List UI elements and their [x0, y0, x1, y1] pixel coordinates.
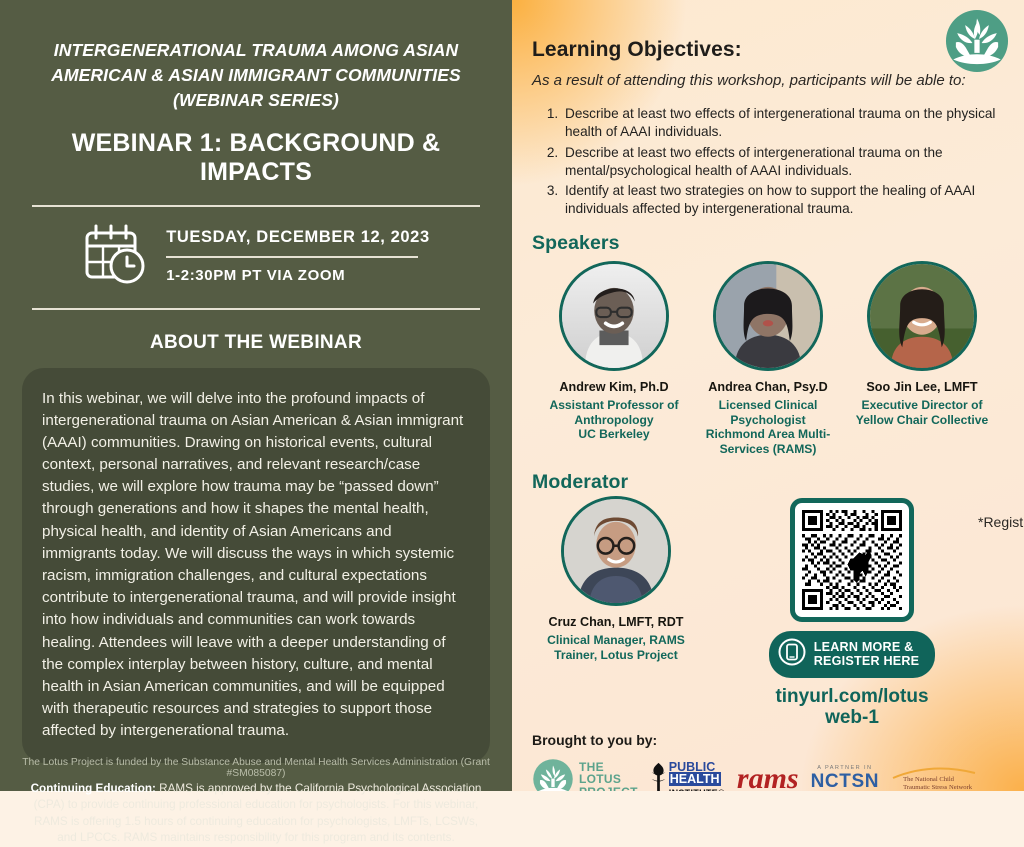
speaker-role: Executive Director of Yellow Chair Colle… [846, 398, 998, 428]
webinar-time: 1-2:30PM PT VIA ZOOM [166, 258, 430, 284]
nctsn-sub-line2: Traumatic Stress Network [903, 784, 972, 791]
divider-bottom [32, 308, 480, 310]
moderator-heading: Moderator [532, 471, 1004, 494]
speaker-card: Andrea Chan, Psy.D Licensed Clinical Psy… [692, 261, 844, 457]
learn-more-line1: LEARN MORE & [814, 640, 914, 654]
about-heading: ABOUT THE WEBINAR [0, 332, 512, 354]
sponsor-national-child-traumatic-stress-network-logo: The National Child Traumatic Stress Netw… [891, 767, 972, 791]
brought-to-you-by-label: Brought to you by: [532, 732, 1004, 748]
left-panel: INTERGENERATIONAL TRAUMA AMONG ASIAN AME… [0, 0, 512, 791]
speaker-card: Andrew Kim, Ph.D Assistant Professor of … [538, 261, 690, 457]
right-panel: Learning Objectives: As a result of atte… [512, 0, 1024, 791]
learn-more-line2: REGISTER HERE [814, 654, 919, 668]
continuing-education-block: Continuing Education: RAMS is approved b… [30, 781, 482, 847]
learn-more-label: LEARN MORE & REGISTER HERE [814, 640, 919, 670]
mobile-phone-icon [778, 637, 806, 672]
learn-more-register-button[interactable]: LEARN MORE & REGISTER HERE [769, 631, 935, 678]
avatar [559, 261, 669, 371]
lotus-project-wordmark: THE LOTUS PROJECT [579, 761, 638, 792]
about-body-text: In this webinar, we will delve into the … [42, 388, 468, 743]
nctsn-wordmark: NCTSN [811, 772, 879, 791]
phi-line3: INSTITUTE® [669, 788, 725, 791]
qr-code-icon[interactable] [790, 498, 914, 622]
sponsor-lotus-project-logo: THE LOTUS PROJECT [532, 758, 638, 791]
speaker-name: Andrea Chan, Psy.D [692, 380, 844, 394]
moderator-card: Cruz Chan, LMFT, RDT Clinical Manager, R… [532, 496, 700, 729]
calendar-clock-icon [82, 223, 148, 290]
sponsor-logo-row: THE LOTUS PROJECT PUBLIC HEALTH INSTITUT… [532, 755, 1004, 791]
avatar [867, 261, 977, 371]
sponsor-rams-logo: rams [737, 764, 799, 791]
avatar [561, 496, 671, 606]
speaker-role: Licensed Clinical Psychologist Richmond … [692, 398, 844, 457]
datetime-block: TUESDAY, DECEMBER 12, 2023 1-2:30PM PT V… [0, 223, 512, 290]
ce-label: Continuing Education: [31, 782, 156, 795]
objective-item: Describe at least two effects of interge… [562, 105, 1004, 141]
moderator-name: Cruz Chan, LMFT, RDT [532, 615, 700, 629]
sponsor-public-health-institute-logo: PUBLIC HEALTH INSTITUTE® [650, 760, 725, 791]
moderator-role: Clinical Manager, RAMS Trainer, Lotus Pr… [532, 633, 700, 663]
learning-objectives-list: Describe at least two effects of interge… [562, 105, 1004, 217]
registration-url[interactable]: tinyurl.com/lotus web-1 [775, 686, 928, 729]
speaker-role: Assistant Professor of Anthropology UC B… [538, 398, 690, 442]
lotus-line3: PROJECT [579, 785, 638, 791]
speakers-heading: Speakers [532, 232, 1004, 255]
registration-free-note: *Registration is FREE [978, 514, 1024, 530]
objective-item: Describe at least two effects of interge… [562, 144, 1004, 180]
about-box: In this webinar, we will delve into the … [22, 368, 490, 763]
speaker-name: Soo Jin Lee, LMFT [846, 380, 998, 394]
objective-item: Identify at least two strategies on how … [562, 182, 1004, 218]
learning-objectives-intro: As a result of attending this workshop, … [532, 71, 982, 91]
phi-line2: HEALTH [669, 772, 721, 786]
sponsor-nctsn-logo: A PARTNER IN NCTSN [811, 766, 879, 791]
webinar-flyer: INTERGENERATIONAL TRAUMA AMONG ASIAN AME… [0, 0, 1024, 791]
speaker-name: Andrew Kim, Ph.D [538, 380, 690, 394]
lotus-logo-icon [944, 8, 1010, 74]
speaker-card: Soo Jin Lee, LMFT Executive Director of … [846, 261, 998, 457]
moderator-and-qr-area: Cruz Chan, LMFT, RDT Clinical Manager, R… [532, 496, 1004, 729]
url-line2: web-1 [825, 707, 879, 728]
divider-top [32, 205, 480, 207]
webinar-date: TUESDAY, DECEMBER 12, 2023 [166, 228, 430, 256]
learning-objectives-heading: Learning Objectives: [532, 38, 1004, 62]
speakers-row: Andrew Kim, Ph.D Assistant Professor of … [532, 261, 1004, 457]
datetime-text: TUESDAY, DECEMBER 12, 2023 1-2:30PM PT V… [166, 228, 430, 284]
series-title: INTERGENERATIONAL TRAUMA AMONG ASIAN AME… [14, 38, 498, 113]
avatar [713, 261, 823, 371]
grant-funding-line: The Lotus Project is funded by the Subst… [0, 757, 512, 779]
phi-wordmark: PUBLIC HEALTH INSTITUTE® [669, 761, 725, 791]
registration-block: *Registration is FREE [700, 496, 1004, 729]
webinar-title: WEBINAR 1: BACKGROUND & IMPACTS [14, 129, 498, 187]
url-line1: tinyurl.com/lotus [775, 686, 928, 707]
